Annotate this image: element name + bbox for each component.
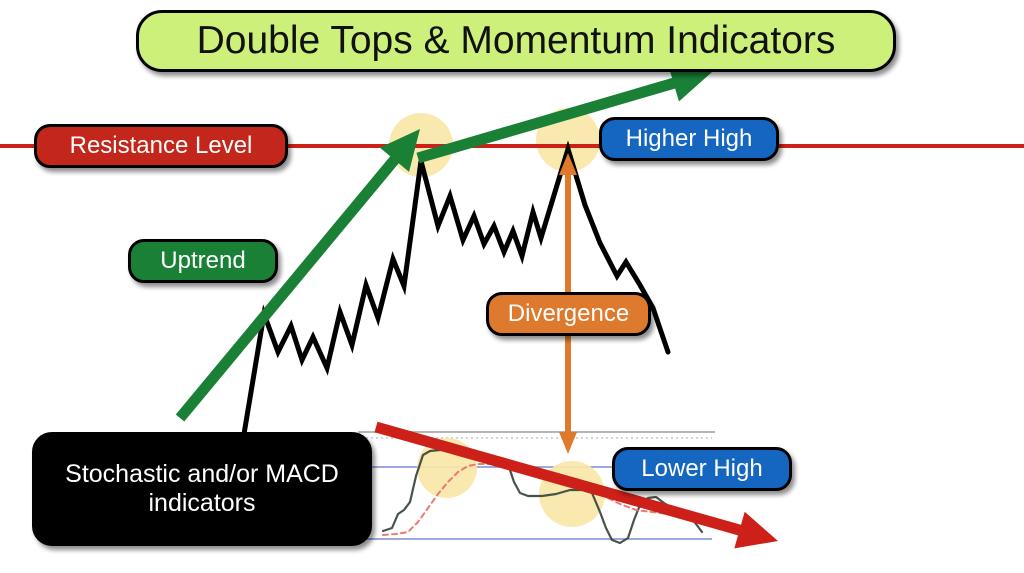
label-divergence: Divergence (486, 292, 651, 336)
label-higher-high-text: Higher High (626, 126, 753, 151)
slide-canvas: Double Tops & Momentum Indicators Resist… (0, 0, 1024, 573)
label-resistance-level-text: Resistance Level (70, 133, 253, 158)
label-indicators-text: Stochastic and/or MACD indicators (35, 460, 369, 519)
slide-title-text: Double Tops & Momentum Indicators (197, 21, 836, 62)
label-uptrend-text: Uptrend (160, 248, 245, 273)
label-lower-high: Lower High (612, 447, 792, 491)
label-divergence-text: Divergence (508, 301, 629, 326)
divergence-arrow-down (559, 330, 577, 454)
label-lower-high-text: Lower High (641, 456, 762, 481)
slide-title: Double Tops & Momentum Indicators (136, 10, 896, 72)
label-higher-high: Higher High (599, 117, 779, 161)
label-resistance-level: Resistance Level (34, 124, 288, 168)
label-uptrend: Uptrend (128, 239, 278, 283)
label-indicators: Stochastic and/or MACD indicators (32, 432, 372, 546)
